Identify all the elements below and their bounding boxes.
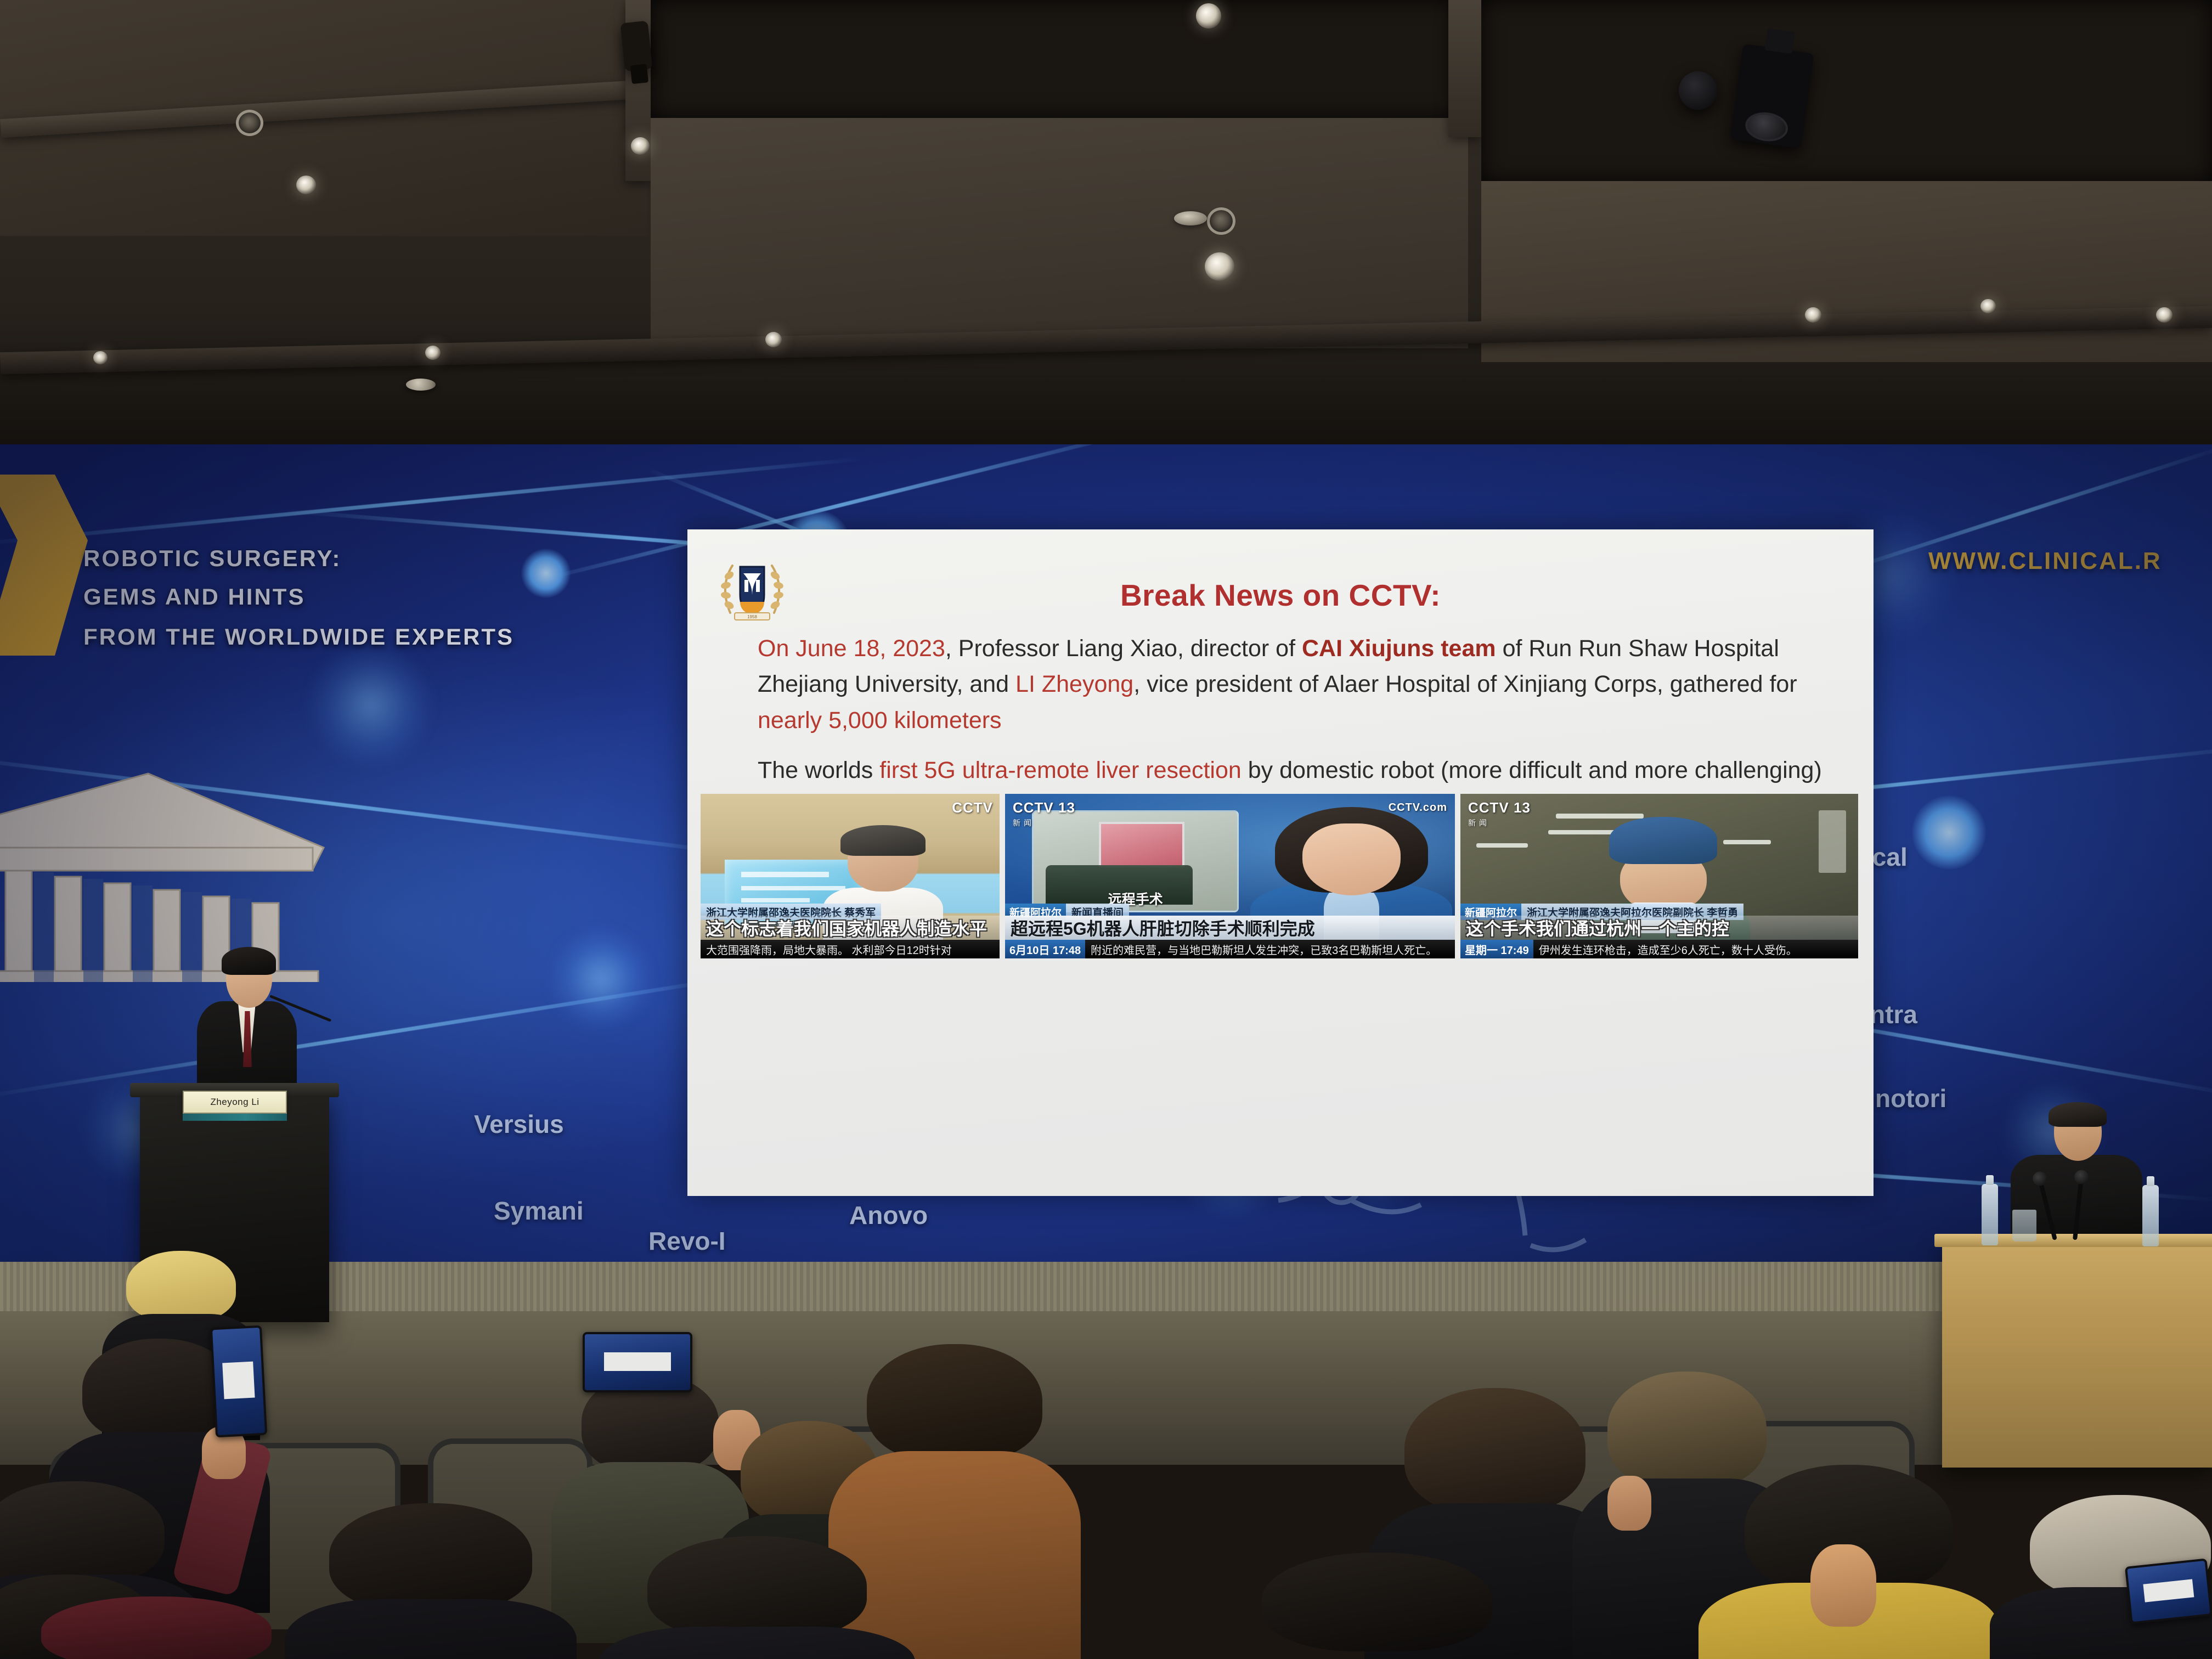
phone-screen xyxy=(2127,1561,2210,1622)
chyron-headline: 这个手术我们通过杭州一个主的控 xyxy=(1460,916,1858,940)
water-glass xyxy=(2012,1210,2036,1242)
cctv-logo-sub: 新闻 xyxy=(1013,817,1075,828)
display-bar xyxy=(741,872,829,878)
person-head xyxy=(647,1536,867,1640)
parthenon-graphic xyxy=(0,752,335,982)
phone-screen xyxy=(585,1334,690,1390)
ceiling-downlight xyxy=(1805,307,1821,323)
display-bar xyxy=(741,898,810,902)
cctv-logo-text: CCTV 13 xyxy=(1468,799,1531,816)
slide-run: On June 18, 2023 xyxy=(758,635,945,662)
podium-nameplate: Zheyong Li xyxy=(183,1091,287,1114)
brand-label-versius: Versius xyxy=(474,1109,564,1139)
smartphone[interactable] xyxy=(2125,1558,2212,1624)
ceiling-recess xyxy=(651,0,1463,118)
ceiling-panel xyxy=(651,118,1468,348)
water-bottle xyxy=(2142,1185,2159,1246)
audience-person xyxy=(1262,1553,1492,1659)
phone-preview-image xyxy=(2143,1579,2194,1602)
projector-lens xyxy=(1743,110,1790,144)
network-node xyxy=(1912,795,1986,870)
person-head xyxy=(1262,1553,1492,1651)
ticker-text: 大范围强降雨，局地大暴雨。 水利部今日12时针对 xyxy=(701,941,952,957)
slide-run: , vice president of Alaer Hospital of Xi… xyxy=(1133,671,1797,697)
ceiling-downlight xyxy=(765,332,782,347)
cctv-logo: CCTV xyxy=(952,799,993,816)
news-ticker: 6月10日 17:48 附近的难民营，与当地巴勒斯坦人发生冲突，已致3名巴勒斯坦… xyxy=(1005,940,1455,958)
banner-title-line-1: ROBOTIC SURGERY: xyxy=(83,540,341,577)
svg-text:1958: 1958 xyxy=(747,614,757,619)
news-panel-anchor-studio: 远程手术 CCTV 13 新闻 CCTV.com 新疆阿拉尔 新闻直播间 xyxy=(1005,794,1455,958)
speaker-hair xyxy=(222,947,276,975)
smoke-detector xyxy=(1174,211,1207,225)
moderator-hair xyxy=(2049,1102,2107,1127)
slide-run: LI Zheyong xyxy=(1015,671,1133,697)
person-body xyxy=(285,1599,577,1659)
chyron-headline: 这个标志着我们国家机器人制造水平 xyxy=(701,916,1000,940)
person-head xyxy=(867,1344,1042,1462)
smoke-detector xyxy=(406,379,436,391)
cctv-logo-sub: 新闻 xyxy=(1468,817,1531,828)
slide-run: first 5G ultra-remote liver resection xyxy=(879,757,1242,783)
slide-body: On June 18, 2023, Professor Liang Xiao, … xyxy=(758,631,1832,803)
news-panel-surgeon-interview: CCTV 13 新闻 新疆阿拉尔 浙江大学附属邵逸夫阿拉尔医院副院长 李哲勇 这… xyxy=(1460,794,1858,958)
cctv-logo: CCTV 13 新闻 xyxy=(1468,799,1531,828)
ceiling-fan-cage xyxy=(1679,71,1717,110)
ceiling-downlight xyxy=(1207,207,1235,235)
ceiling-recess xyxy=(1481,0,2212,181)
light-bokeh xyxy=(307,642,433,768)
ticker-timestamp: 6月10日 17:48 xyxy=(1005,940,1085,958)
person-body xyxy=(41,1596,272,1659)
person-body xyxy=(599,1627,915,1659)
anchor-face xyxy=(1302,823,1400,895)
ceiling-downlight xyxy=(1196,3,1221,29)
smartphone[interactable] xyxy=(583,1332,692,1392)
phone-screen xyxy=(212,1328,265,1435)
banner-title-line-2: GEMS AND HINTS xyxy=(83,579,305,615)
ceiling-downlight xyxy=(296,176,316,194)
audience-person xyxy=(647,1536,867,1659)
ceiling-beam xyxy=(1448,0,1481,137)
surgical-cap xyxy=(1609,817,1717,864)
slide-run: The worlds xyxy=(758,757,879,783)
person-head xyxy=(1607,1372,1767,1489)
audience-person xyxy=(41,1596,272,1659)
ceiling-downlight xyxy=(236,110,263,136)
network-node xyxy=(521,549,571,598)
chyron-headline: 超远程5G机器人肝脏切除手术顺利完成 xyxy=(1005,916,1455,940)
ceiling xyxy=(0,0,2212,444)
website-url-text: WWW.CLINICAL.R xyxy=(1928,548,2162,575)
smartphone[interactable] xyxy=(210,1325,267,1438)
slide-run: CAI Xiujuns team xyxy=(1302,635,1496,662)
ceiling-downlight xyxy=(1980,299,1996,313)
ceiling-downlight xyxy=(2156,307,2172,323)
slide-run: nearly 5,000 kilometers xyxy=(758,707,1002,733)
brand-label-notori: notori xyxy=(1875,1084,1946,1113)
fixture-body xyxy=(630,64,648,84)
projected-slide: 1958 Break News on CCTV: On June 18, 202… xyxy=(687,529,1874,1196)
water-bottle xyxy=(1982,1184,1998,1245)
person-hand xyxy=(1607,1476,1651,1531)
ticker-text: 伊州发生连环枪击，造成至少6人死亡，数十人受伤。 xyxy=(1533,941,1797,957)
ceiling-downlight xyxy=(1205,252,1234,281)
slide-run: , Professor Liang Xiao, director of xyxy=(945,635,1302,662)
banner-title-line-3: FROM THE WORLDWIDE EXPERTS xyxy=(83,619,514,655)
phone-preview-image xyxy=(604,1352,672,1372)
audience-person xyxy=(867,1344,1042,1629)
figure-hair xyxy=(840,825,926,856)
ceiling-downlight xyxy=(425,346,441,360)
slide-title: Break News on CCTV: xyxy=(687,578,1874,613)
endoscopic-monitor xyxy=(1099,822,1184,867)
ceiling-light-fixture xyxy=(620,21,653,72)
brand-label-symani: Symani xyxy=(494,1196,584,1226)
projector-mount xyxy=(1765,29,1795,54)
corridor-light xyxy=(1476,843,1528,848)
cctv-logo-text: CCTV 13 xyxy=(1013,799,1075,816)
slide-run: by domestic robot (more difficult and mo… xyxy=(1242,757,1822,783)
brand-label-anovo: Anovo xyxy=(849,1200,928,1230)
news-ticker: 大范围强降雨，局地大暴雨。 水利部今日12时针对 xyxy=(701,940,1000,958)
cctv-com-watermark: CCTV.com xyxy=(1389,802,1447,814)
news-panel-interview-director: CCTV 浙江大学附属邵逸夫医院院长 蔡秀军 这个标志着我们国家机器人制造水平 … xyxy=(701,794,1000,958)
slide-paragraph-1: On June 18, 2023, Professor Liang Xiao, … xyxy=(758,631,1832,738)
light-bokeh xyxy=(549,927,653,1031)
person-head xyxy=(126,1251,236,1322)
audience-person xyxy=(329,1503,532,1659)
phone-preview-image xyxy=(223,1362,255,1399)
person-head xyxy=(329,1503,532,1613)
news-panel-row: CCTV 浙江大学附属邵逸夫医院院长 蔡秀军 这个标志着我们国家机器人制造水平 … xyxy=(701,794,1860,958)
slide-paragraph-2: The worlds first 5G ultra-remote liver r… xyxy=(758,753,1832,788)
person-hand xyxy=(1810,1544,1876,1627)
person-head xyxy=(0,1481,165,1585)
ceiling-downlight xyxy=(631,137,650,155)
ticker-timestamp: 星期一 17:49 xyxy=(1460,940,1533,958)
ticker-text: 附近的难民营，与当地巴勒斯坦人发生冲突，已致3名巴勒斯坦人死亡。 xyxy=(1085,941,1437,957)
audience-seating xyxy=(0,1245,2212,1659)
conference-photo: ROBOTIC SURGERY: GEMS AND HINTS FROM THE… xyxy=(0,0,2212,1659)
brand-label-ntra: ntra xyxy=(1870,1000,1917,1029)
cctv-logo: CCTV 13 新闻 xyxy=(1013,799,1075,828)
corridor-light xyxy=(1819,810,1847,873)
ceiling-projector xyxy=(1730,44,1814,149)
ceiling-downlight xyxy=(93,351,108,364)
podium-brand-strip xyxy=(183,1114,287,1121)
person-head xyxy=(1404,1388,1585,1514)
news-ticker: 星期一 17:49 伊州发生连环枪击，造成至少6人死亡，数十人受伤。 xyxy=(1460,940,1858,958)
